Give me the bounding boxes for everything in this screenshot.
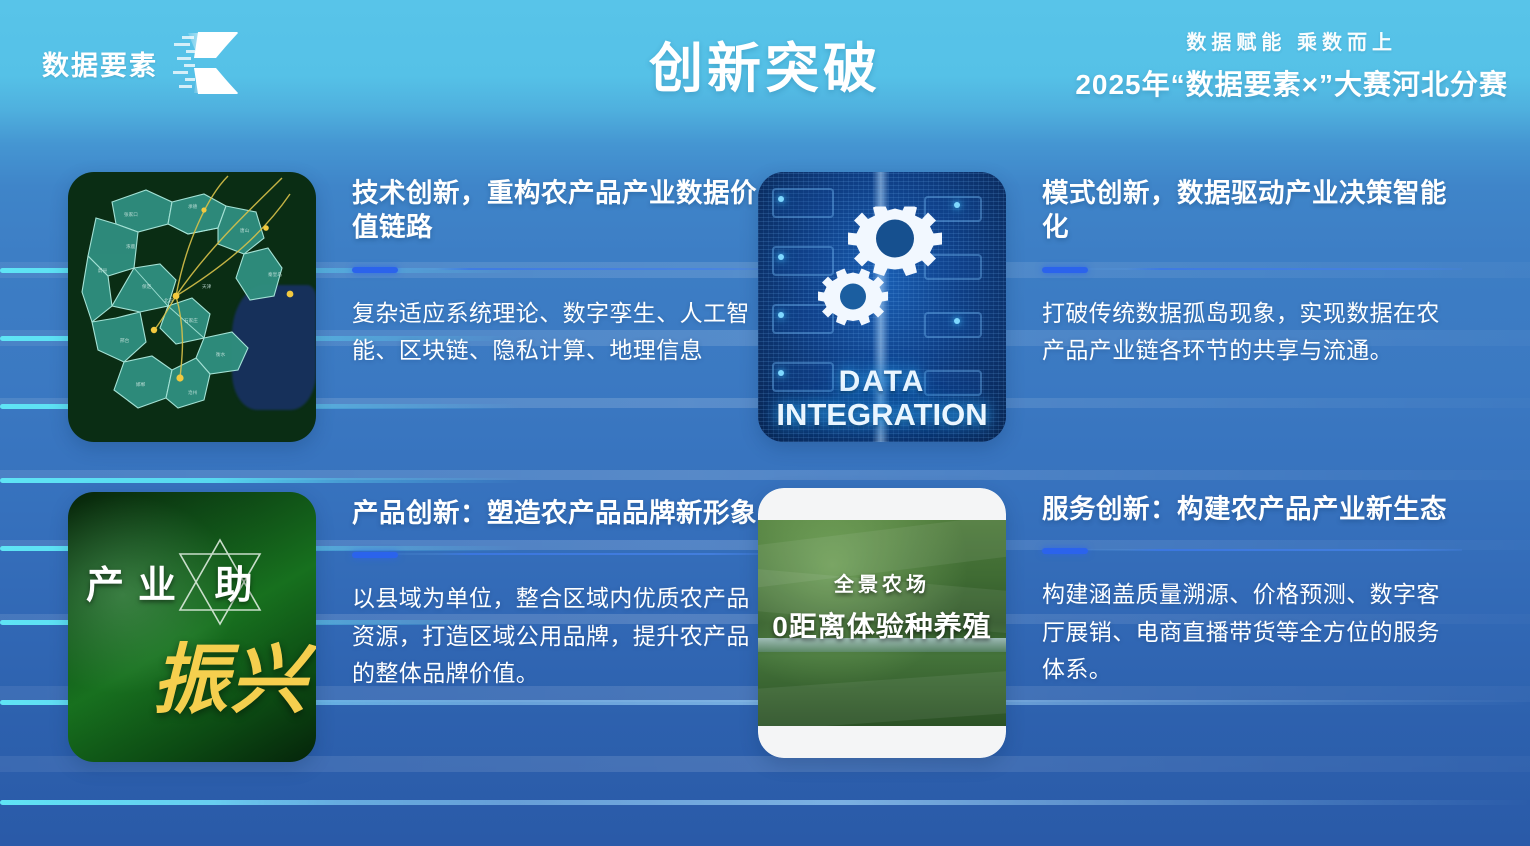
svg-text:天津: 天津 — [202, 283, 212, 290]
card-description: 复杂适应系统理论、数字孪生、人工智能、区块链、隐私计算、地理信息 — [352, 295, 772, 370]
card-grid: 张家口 涿鹿 蔚县 承德 唐山 秦皇岛 保定 石家庄 衡水 邢台 邯郸 沧州 — [0, 0, 1530, 846]
svg-text:石家庄: 石家庄 — [184, 317, 198, 324]
card-title: 产品创新：塑造农产品品牌新形象 — [352, 496, 772, 530]
slide-root: 数据要素 — [0, 0, 1530, 846]
card-item[interactable]: 产业 助 振兴 产品创新：塑造农产品品牌新形象 以县域为单位，整合区域内优质农产… — [68, 492, 772, 762]
svg-text:唐山: 唐山 — [240, 227, 250, 234]
svg-text:保定: 保定 — [142, 283, 152, 290]
svg-text:蔚县: 蔚县 — [98, 267, 108, 274]
caption-line-2: INTEGRATION — [758, 399, 1006, 430]
card-title: 技术创新，重构农产品产业数据价值链路 — [352, 176, 772, 245]
caption-line-1: DATA — [758, 367, 1006, 397]
caption-line-2: 0距离体验种养殖 — [758, 605, 1006, 645]
caption-line-1: 全景农场 — [758, 568, 1006, 597]
svg-text:秦皇岛: 秦皇岛 — [268, 271, 282, 278]
panorama-farm-image: 全景农场 0距离体验种养殖 — [758, 488, 1006, 758]
poster-line-2: 振兴 — [152, 618, 308, 728]
card-description: 以县域为单位，整合区域内优质农产品资源，打造区域公用品牌，提升农产品的整体品牌价… — [352, 580, 772, 692]
data-integration-image: DATA INTEGRATION — [758, 172, 1006, 442]
card-item[interactable]: 张家口 涿鹿 蔚县 承德 唐山 秦皇岛 保定 石家庄 衡水 邢台 邯郸 沧州 — [68, 172, 772, 442]
svg-text:邯郸: 邯郸 — [136, 381, 146, 388]
svg-text:邢台: 邢台 — [120, 337, 130, 344]
card-title: 服务创新：构建农产品产业新生态 — [1042, 492, 1462, 526]
svg-text:涿鹿: 涿鹿 — [126, 243, 136, 250]
gears-icon — [807, 206, 957, 343]
card-text: 产品创新：塑造农产品品牌新形象 以县域为单位，整合区域内优质农产品资源，打造区域… — [352, 492, 772, 762]
card-item[interactable]: 全景农场 0距离体验种养殖 服务创新：构建农产品产业新生态 构建涵盖质量溯源、价… — [758, 488, 1462, 758]
card-text: 模式创新，数据驱动产业决策智能化 打破传统数据孤岛现象，实现数据在农产品产业链各… — [1042, 172, 1462, 442]
card-text: 技术创新，重构农产品产业数据价值链路 复杂适应系统理论、数字孪生、人工智能、区块… — [352, 172, 772, 442]
card-divider — [352, 267, 772, 271]
svg-text:承德: 承德 — [188, 203, 198, 210]
card-divider — [352, 552, 772, 556]
svg-text:张家口: 张家口 — [124, 211, 138, 218]
poster-line-1: 产业 助 — [86, 554, 267, 609]
card-title: 模式创新，数据驱动产业决策智能化 — [1042, 176, 1462, 245]
card-description: 打破传统数据孤岛现象，实现数据在农产品产业链各环节的共享与流通。 — [1042, 295, 1462, 370]
card-text: 服务创新：构建农产品产业新生态 构建涵盖质量溯源、价格预测、数字客厅展销、电商直… — [1042, 488, 1462, 758]
card-description: 构建涵盖质量溯源、价格预测、数字客厅展销、电商直播带货等全方位的服务体系。 — [1042, 576, 1462, 688]
hebei-map-image: 张家口 涿鹿 蔚县 承德 唐山 秦皇岛 保定 石家庄 衡水 邢台 邯郸 沧州 — [68, 172, 316, 442]
image-caption: DATA INTEGRATION — [758, 367, 1006, 430]
industry-revitalization-image: 产业 助 振兴 — [68, 492, 316, 762]
image-caption: 全景农场 0距离体验种养殖 — [758, 568, 1006, 645]
card-divider — [1042, 267, 1462, 271]
svg-text:北京: 北京 — [164, 297, 174, 304]
svg-text:沧州: 沧州 — [188, 389, 198, 396]
svg-text:衡水: 衡水 — [216, 351, 226, 358]
card-divider — [1042, 548, 1462, 552]
card-item[interactable]: DATA INTEGRATION 模式创新，数据驱动产业决策智能化 打破传统数据… — [758, 172, 1462, 442]
